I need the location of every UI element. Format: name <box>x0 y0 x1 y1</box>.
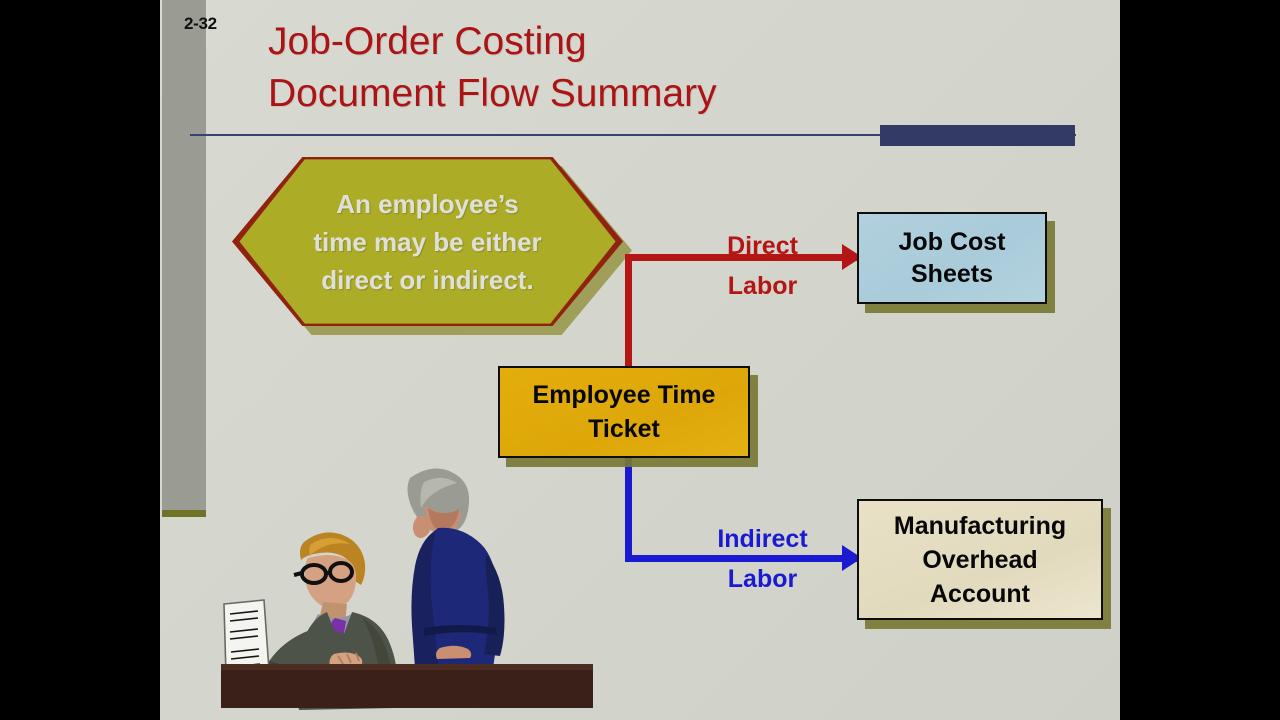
callout-hexagon-text: An employee’s time may be either direct … <box>232 157 623 326</box>
desk-surface <box>221 664 593 708</box>
left-accent-band-cap <box>162 510 206 517</box>
indirect-labor-connector-vertical <box>625 456 632 562</box>
job-cost-sheets-box-label: Job Cost Sheets <box>857 212 1047 304</box>
page-title: Job-Order Costing Document Flow Summary <box>268 16 968 120</box>
presentation-slide: 2-32 Job-Order Costing Document Flow Sum… <box>160 0 1120 720</box>
title-accent-block <box>880 125 1075 146</box>
manufacturing-overhead-account-box-label: Manufacturing Overhead Account <box>857 499 1103 620</box>
direct-labor-connector-vertical <box>625 254 632 368</box>
slide-number: 2-32 <box>184 14 217 34</box>
screenshot-stage: 2-32 Job-Order Costing Document Flow Sum… <box>0 0 1280 720</box>
employee-time-ticket-box: Employee Time Ticket <box>498 366 750 458</box>
businessmen-illustration <box>210 462 605 710</box>
direct-labor-label: Direct Labor <box>690 226 835 306</box>
job-cost-sheets-box: Job Cost Sheets <box>857 212 1047 304</box>
desk-edge-highlight <box>221 664 593 670</box>
employee-time-ticket-box-label: Employee Time Ticket <box>498 366 750 458</box>
callout-hexagon: An employee’s time may be either direct … <box>232 157 632 335</box>
manufacturing-overhead-account-box: Manufacturing Overhead Account <box>857 499 1103 620</box>
left-accent-band <box>162 0 206 510</box>
indirect-labor-label: Indirect Labor <box>685 519 840 599</box>
